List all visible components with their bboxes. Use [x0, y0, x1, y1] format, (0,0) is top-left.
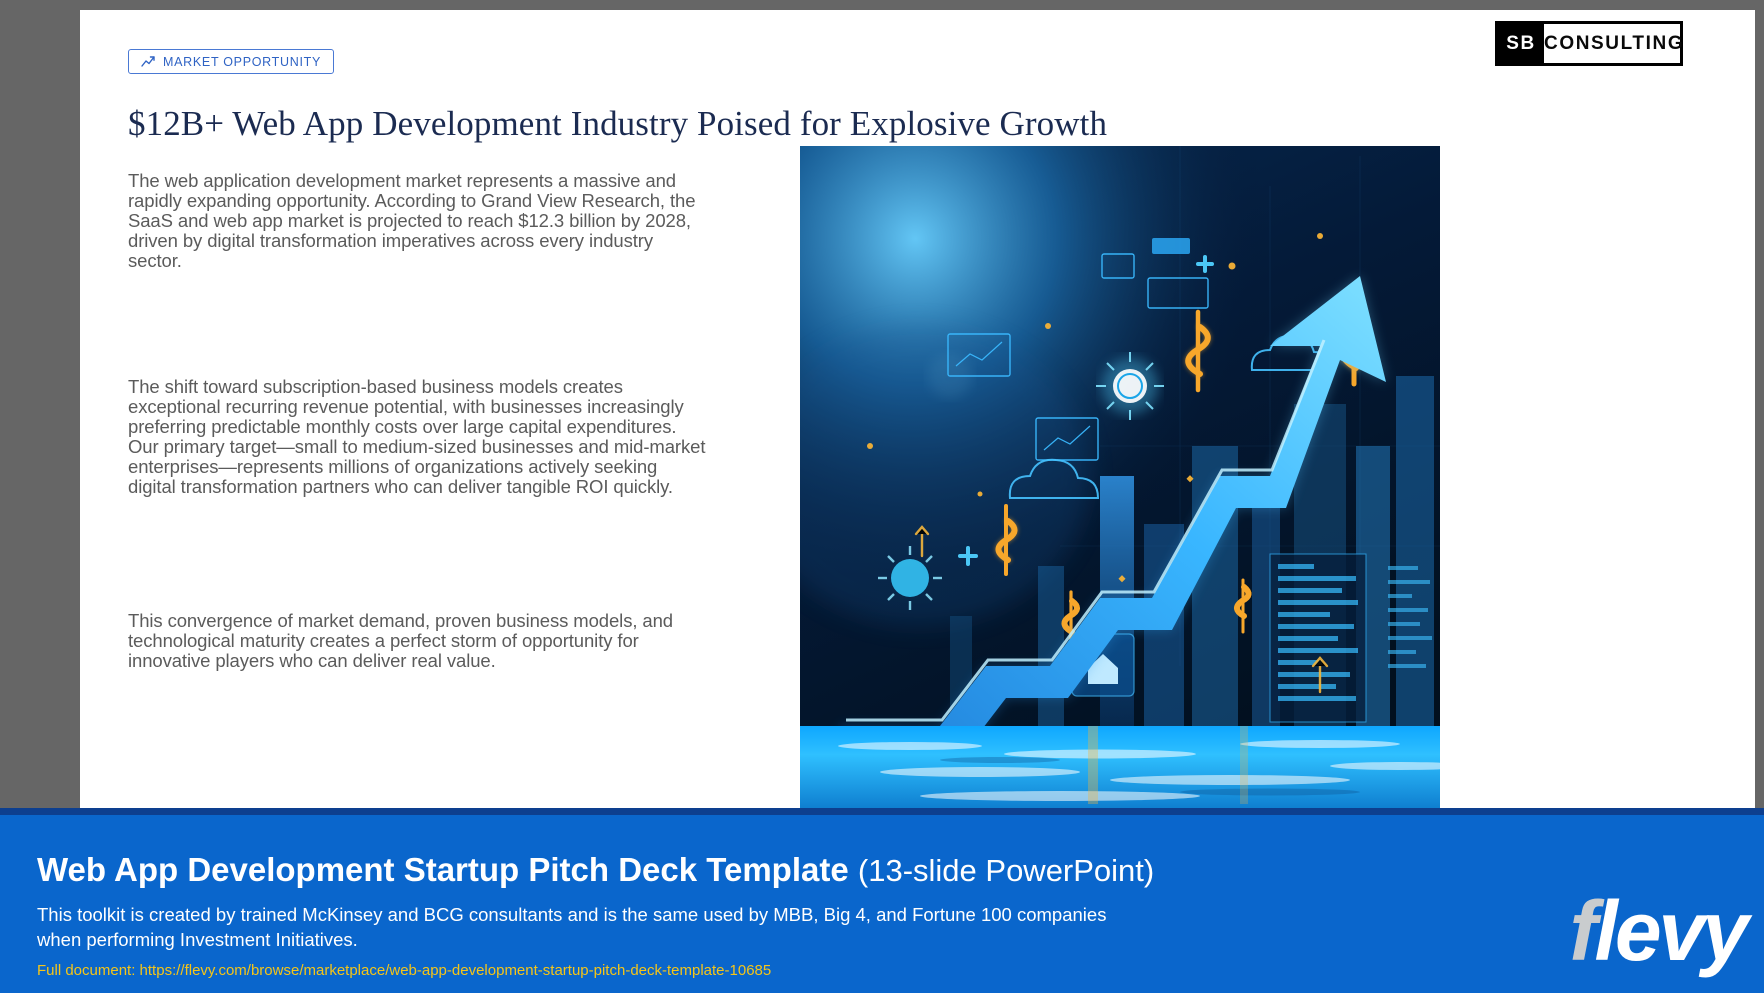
page-title: $12B+ Web App Development Industry Poise… [128, 104, 1228, 144]
product-title-sub: (13-slide PowerPoint) [858, 853, 1154, 888]
trending-up-chart-icon [141, 55, 156, 68]
app-background: SB CONSULTING MARKET OPPORTUNITY $12B+ W… [0, 0, 1764, 993]
logo-mark: SB [1498, 24, 1544, 63]
body-paragraph-2: The shift toward subscription-based busi… [128, 377, 708, 497]
body-paragraph-3: This convergence of market demand, prove… [128, 611, 708, 671]
badge-label: MARKET OPPORTUNITY [163, 55, 321, 69]
flevy-footer-banner: Web App Development Startup Pitch Deck T… [0, 808, 1764, 993]
full-document-link[interactable]: Full document: https://flevy.com/browse/… [37, 962, 771, 979]
growth-illustration [800, 146, 1440, 808]
product-title: Web App Development Startup Pitch Deck T… [37, 851, 1154, 889]
sb-consulting-logo: SB CONSULTING [1495, 21, 1683, 66]
presentation-slide: SB CONSULTING MARKET OPPORTUNITY $12B+ W… [80, 10, 1755, 808]
market-opportunity-badge: MARKET OPPORTUNITY [128, 49, 334, 74]
flevy-logo-f: f [1570, 884, 1595, 978]
flevy-logo[interactable]: flevy [1570, 889, 1746, 973]
logo-wordmark: CONSULTING [1544, 33, 1684, 55]
product-description: This toolkit is created by trained McKin… [37, 903, 1137, 953]
product-title-main: Web App Development Startup Pitch Deck T… [37, 851, 849, 888]
illustration-artwork [800, 146, 1440, 808]
flevy-logo-rest: levy [1595, 884, 1747, 978]
body-paragraph-1: The web application development market r… [128, 171, 708, 271]
